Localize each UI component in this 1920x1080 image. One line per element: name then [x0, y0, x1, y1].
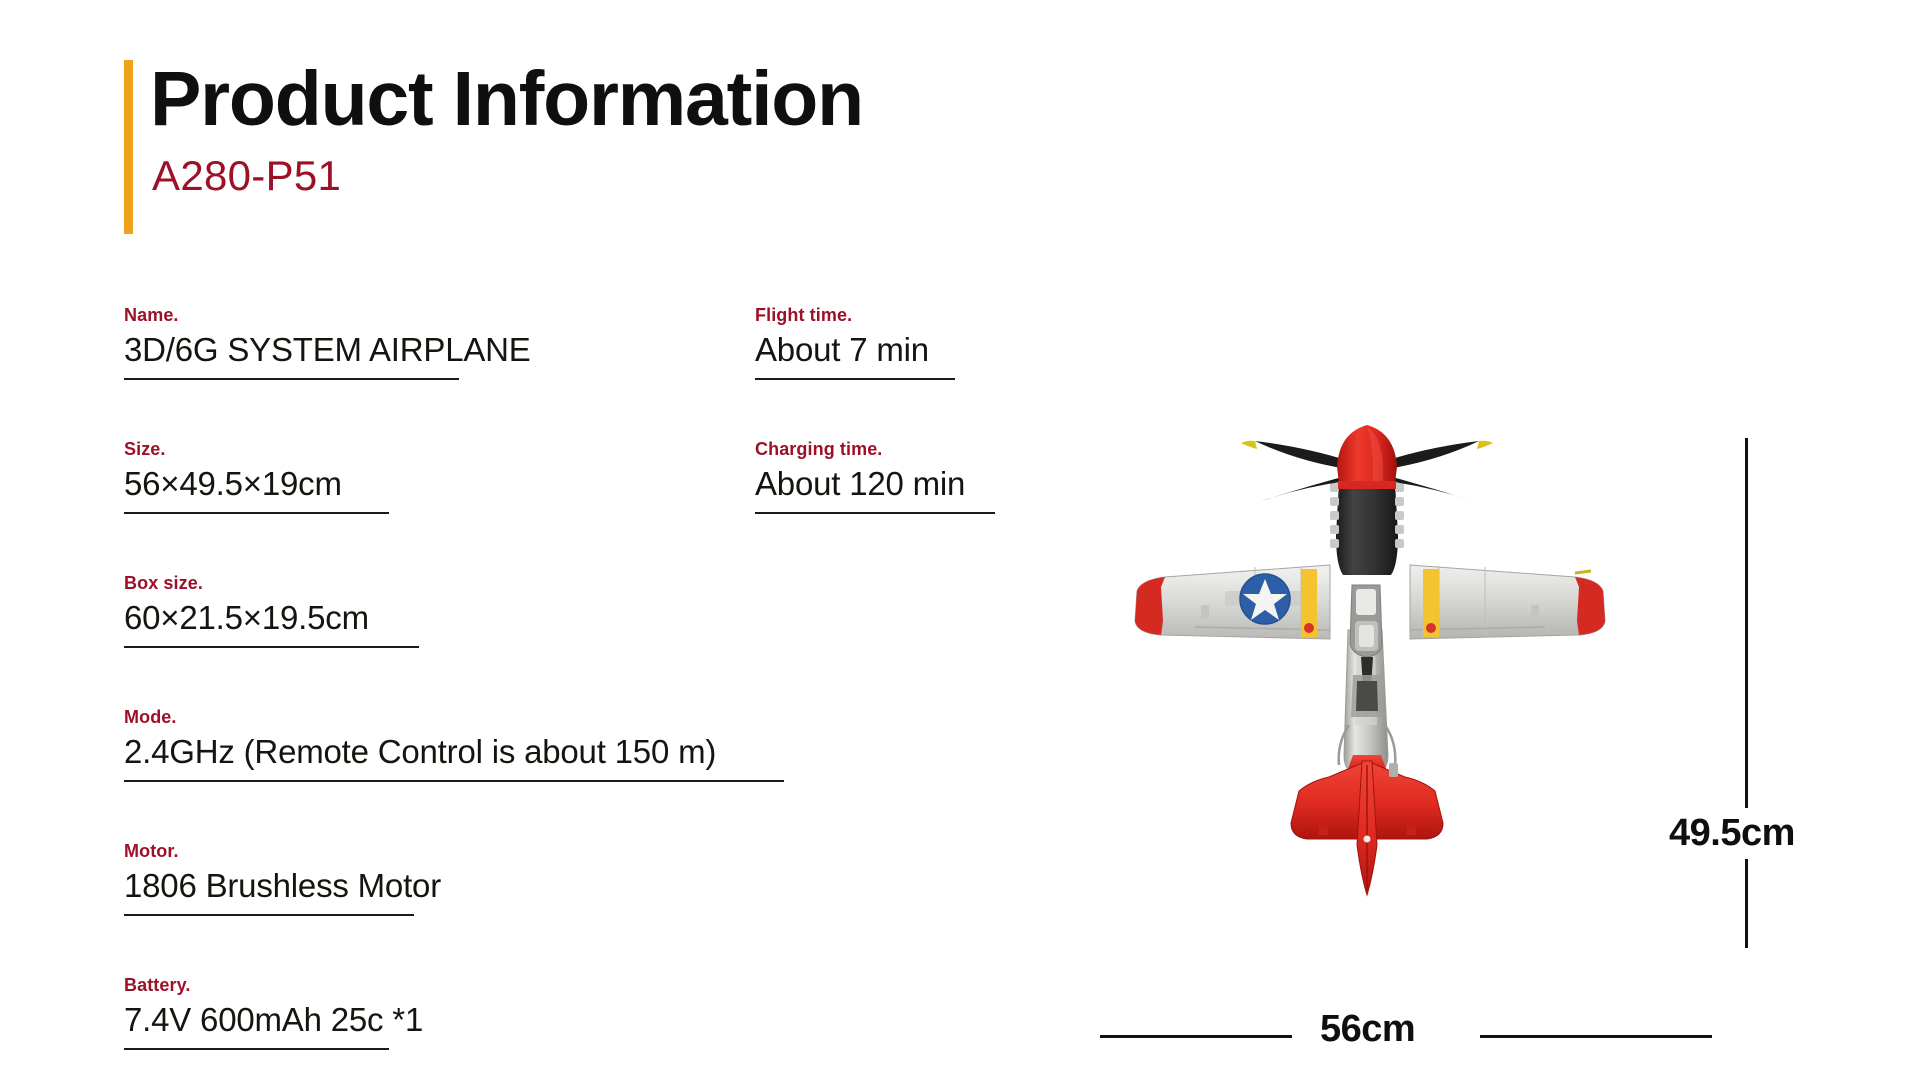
- airplane-left-wing: [1135, 565, 1330, 639]
- width-dimension-line-left: [1100, 1035, 1292, 1038]
- spec-rule-motor: [124, 914, 414, 916]
- spec-value-charging-time: About 120 min: [755, 464, 995, 504]
- spec-value-box-size: 60×21.5×19.5cm: [124, 598, 419, 638]
- spec-label-name: Name.: [124, 305, 459, 326]
- spec-label-size: Size.: [124, 439, 389, 460]
- spec-rule-name: [124, 378, 459, 380]
- airplane-tail: [1291, 755, 1443, 895]
- product-image-p51-airplane: [1105, 425, 1725, 995]
- width-dimension-label: 56cm: [1320, 1008, 1415, 1051]
- spec-rule-size: [124, 512, 389, 514]
- spec-label-box-size: Box size.: [124, 573, 419, 594]
- page-title: Product Information: [150, 56, 863, 142]
- spec-rule-charging-time: [755, 512, 995, 514]
- spec-row-flight-time: Flight time. About 7 min: [755, 305, 955, 380]
- spec-row-charging-time: Charging time. About 120 min: [755, 439, 995, 514]
- spec-value-mode: 2.4GHz (Remote Control is about 150 m): [124, 732, 784, 772]
- spec-row-box-size: Box size. 60×21.5×19.5cm: [124, 573, 419, 648]
- spec-value-battery: 7.4V 600mAh 25c *1: [124, 1000, 389, 1040]
- spec-rule-battery: [124, 1048, 389, 1050]
- spec-row-motor: Motor. 1806 Brushless Motor: [124, 841, 414, 916]
- height-dimension-line: [1745, 438, 1748, 948]
- spec-label-mode: Mode.: [124, 707, 784, 728]
- spec-value-motor: 1806 Brushless Motor: [124, 866, 414, 906]
- width-dimension-line-right: [1480, 1035, 1712, 1038]
- spec-row-mode: Mode. 2.4GHz (Remote Control is about 15…: [124, 707, 784, 782]
- airplane-right-wing: [1410, 565, 1605, 639]
- spec-label-motor: Motor.: [124, 841, 414, 862]
- product-info-page: Product Information A280-P51 Name. 3D/6G…: [0, 0, 1920, 1080]
- title-accent-bar: [124, 60, 133, 234]
- spec-rule-mode: [124, 780, 784, 782]
- spec-value-size: 56×49.5×19cm: [124, 464, 389, 504]
- spec-rule-flight-time: [755, 378, 955, 380]
- page-subtitle: A280-P51: [152, 150, 341, 202]
- spec-value-name: 3D/6G SYSTEM AIRPLANE: [124, 330, 459, 370]
- spec-label-battery: Battery.: [124, 975, 389, 996]
- airplane-nose-cone: [1337, 425, 1397, 483]
- spec-row-size: Size. 56×49.5×19cm: [124, 439, 389, 514]
- spec-label-charging-time: Charging time.: [755, 439, 995, 460]
- spec-rule-box-size: [124, 646, 419, 648]
- height-dimension-label: 49.5cm: [1655, 808, 1809, 859]
- spec-row-name: Name. 3D/6G SYSTEM AIRPLANE: [124, 305, 459, 380]
- spec-label-flight-time: Flight time.: [755, 305, 955, 326]
- spec-value-flight-time: About 7 min: [755, 330, 955, 370]
- spec-row-battery: Battery. 7.4V 600mAh 25c *1: [124, 975, 389, 1050]
